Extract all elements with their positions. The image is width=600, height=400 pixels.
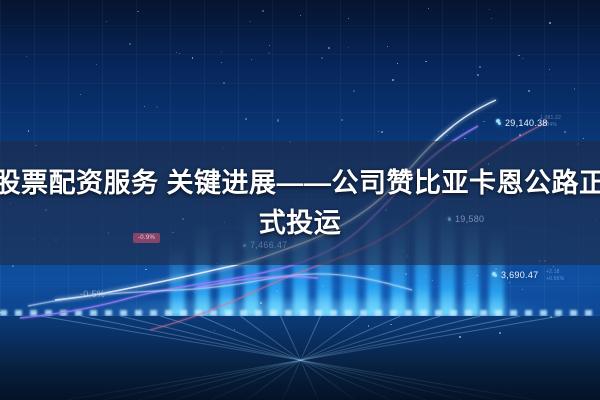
particle xyxy=(522,58,523,59)
particle xyxy=(322,285,324,287)
particle xyxy=(381,131,383,133)
particle xyxy=(425,276,426,277)
particle xyxy=(432,280,433,281)
particle xyxy=(550,316,551,317)
particle xyxy=(564,131,565,132)
headline-line-1: 股票配资服务 关键进展——公司赞比亚卡恩公路正 xyxy=(0,163,600,203)
particle xyxy=(378,131,379,132)
particle xyxy=(245,118,247,120)
particle xyxy=(192,57,193,58)
particle xyxy=(405,273,407,275)
particle xyxy=(221,62,222,63)
particle xyxy=(0,312,1,313)
value-dot-icon xyxy=(494,274,497,277)
particle xyxy=(479,66,481,68)
particle xyxy=(300,15,301,16)
particle xyxy=(129,43,131,45)
particle xyxy=(474,304,475,305)
particle xyxy=(489,9,490,10)
banner-image: 29,140.38 19,580 3,690.47 7,466.47 1,081… xyxy=(0,0,600,400)
value-label-idx-low: 3,690.47 xyxy=(494,270,538,280)
headline-line-2: 式投运 xyxy=(259,203,342,243)
particle xyxy=(371,268,373,270)
particle xyxy=(26,56,27,57)
particle xyxy=(509,282,510,283)
percent-label: -0.5% xyxy=(80,289,105,299)
particle xyxy=(353,90,355,92)
particle xyxy=(144,106,145,107)
particle xyxy=(477,74,479,76)
particle xyxy=(574,88,575,89)
particle xyxy=(549,22,551,24)
particle xyxy=(156,106,158,108)
particle xyxy=(179,53,180,54)
particle xyxy=(276,290,278,292)
particle xyxy=(269,45,270,46)
particle xyxy=(397,63,398,64)
particle xyxy=(477,275,478,276)
ghost-chip-upper-right: 1,081.22 -1.04% xyxy=(540,115,561,129)
particle xyxy=(140,308,141,309)
headline: 股票配资服务 关键进展——公司赞比亚卡恩公路正 式投运 xyxy=(0,141,600,265)
particle xyxy=(268,52,270,54)
particle xyxy=(500,106,501,107)
particle xyxy=(390,324,392,326)
particle xyxy=(583,138,584,139)
value-dot-icon xyxy=(498,122,501,125)
particle xyxy=(260,302,262,304)
particle xyxy=(447,135,448,136)
particle xyxy=(519,134,521,136)
particle xyxy=(223,82,225,84)
particle xyxy=(553,266,554,267)
particle xyxy=(459,336,460,337)
ghost-chip-lower-right: +2.18 +0.65% xyxy=(546,269,564,283)
particle xyxy=(328,47,330,49)
